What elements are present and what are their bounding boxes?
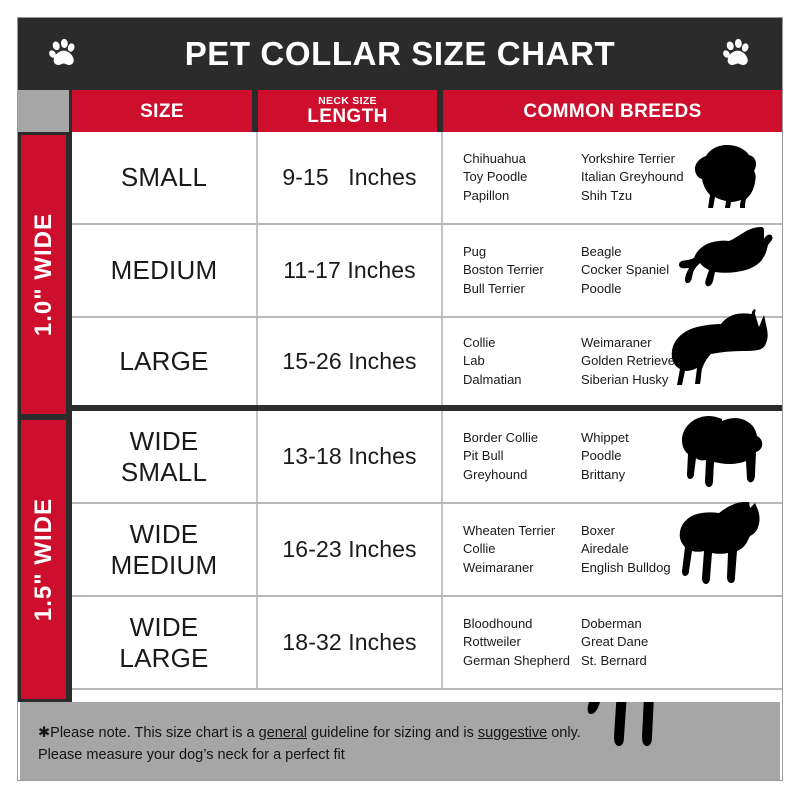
footer-note-underline-suggestive: suggestive (478, 725, 547, 741)
row-size-cell: SMALL (72, 132, 258, 223)
breed-list-column-1: Pug Boston Terrier Bull Terrier (463, 243, 581, 298)
group-rail-column: 1.0" WIDE 1.5" WIDE (18, 132, 69, 702)
footer-note-underline-general: general (259, 725, 307, 741)
column-header-breeds-label: COMMON BREEDS (523, 102, 701, 121)
row-breeds-cell: Collie Lab Dalmatian Weimaraner Golden R… (443, 318, 782, 405)
footer-note-text-2: guideline for sizing and is (307, 725, 478, 741)
row-length-cell: 13-18 Inches (258, 411, 443, 502)
table-row: LARGE 15-26 Inches Collie Lab Dalmatian … (72, 318, 782, 411)
row-size-label-line2: LARGE (119, 643, 208, 673)
breed-list-column-1: Collie Lab Dalmatian (463, 334, 581, 389)
header-corner-cell (18, 90, 69, 132)
row-breeds-cell: Wheaten Terrier Collie Weimaraner Boxer … (443, 504, 782, 595)
table-rows: SMALL 9-15 Inches Chihuahua Toy Poodle P… (69, 132, 782, 702)
row-size-cell: MEDIUM (72, 225, 258, 316)
column-header-length: NECK SIZE LENGTH (255, 90, 440, 132)
row-size-label: MEDIUM (111, 255, 218, 285)
row-breeds-cell: Chihuahua Toy Poodle Papillon Yorkshire … (443, 132, 782, 223)
table-row: SMALL 9-15 Inches Chihuahua Toy Poodle P… (72, 132, 782, 225)
table-body: 1.0" WIDE 1.5" WIDE SMALL 9-15 Inches Ch… (18, 132, 782, 702)
table-row: WIDE SMALL 13-18 Inches Border Collie Pi… (72, 411, 782, 504)
column-header-size-label: SIZE (140, 102, 184, 121)
row-size-label-line2: SMALL (121, 457, 207, 487)
footer-note-text-1: ✱Please note. This size chart is a (38, 725, 259, 741)
breed-list-column-2: Whippet Poodle Brittany (581, 429, 711, 484)
footer-note-line-2: Please measure your dog’s neck for a per… (38, 744, 780, 766)
row-size-label-line1: WIDE (130, 519, 199, 549)
group-rail-1-0-wide-label: 1.0" WIDE (30, 213, 58, 336)
row-size-label-line2: MEDIUM (111, 550, 218, 580)
breed-list-column-2: Doberman Great Dane St. Bernard (581, 615, 711, 670)
breed-list-column-2: Yorkshire Terrier Italian Greyhound Shih… (581, 150, 711, 205)
column-header-length-label: LENGTH (307, 107, 388, 126)
footer-note-text-3: only. (547, 725, 581, 741)
row-breeds-cell: Pug Boston Terrier Bull Terrier Beagle C… (443, 225, 782, 316)
row-length-cell: 11-17 Inches (258, 225, 443, 316)
chart-title-bar: PET COLLAR SIZE CHART (18, 18, 782, 90)
row-breeds-cell: Border Collie Pit Bull Greyhound Whippet… (443, 411, 782, 502)
row-size-cell: WIDE MEDIUM (72, 504, 258, 595)
row-size-label-line1: WIDE (130, 426, 199, 456)
row-size-label: SMALL (121, 162, 207, 192)
row-size-cell: WIDE LARGE (72, 597, 258, 688)
row-breeds-cell: Bloodhound Rottweiler German Shepherd Do… (443, 597, 782, 688)
breed-list-column-2: Boxer Airedale English Bulldog (581, 522, 711, 577)
row-length-cell: 16-23 Inches (258, 504, 443, 595)
breed-list-column-1: Wheaten Terrier Collie Weimaraner (463, 522, 581, 577)
paw-print-icon (46, 37, 80, 71)
row-size-cell: LARGE (72, 318, 258, 405)
row-length-cell: 9-15 Inches (258, 132, 443, 223)
group-rail-1-5-wide: 1.5" WIDE (21, 420, 66, 699)
breed-list-column-1: Chihuahua Toy Poodle Papillon (463, 150, 581, 205)
row-size-label-line1: WIDE (130, 612, 199, 642)
row-length-cell: 15-26 Inches (258, 318, 443, 405)
footer-note: ✱Please note. This size chart is a gener… (20, 702, 780, 780)
breed-list-column-1: Border Collie Pit Bull Greyhound (463, 429, 581, 484)
column-header-size: SIZE (69, 90, 255, 132)
page-title: PET COLLAR SIZE CHART (185, 35, 616, 73)
group-rail-1-0-wide: 1.0" WIDE (21, 135, 66, 414)
table-row: WIDE LARGE 18-32 Inches Bloodhound Rottw… (72, 597, 782, 690)
breed-list-column-2: Weimaraner Golden Retriever Siberian Hus… (581, 334, 711, 389)
paw-print-icon (720, 37, 754, 71)
pet-collar-size-chart: PET COLLAR SIZE CHART SIZE NECK SIZE LEN… (17, 17, 783, 781)
column-header-breeds: COMMON BREEDS (440, 90, 782, 132)
table-row: WIDE MEDIUM 16-23 Inches Wheaten Terrier… (72, 504, 782, 597)
footer-note-line-1: ✱Please note. This size chart is a gener… (38, 722, 780, 744)
row-size-cell: WIDE SMALL (72, 411, 258, 502)
row-length-cell: 18-32 Inches (258, 597, 443, 688)
breed-list-column-2: Beagle Cocker Spaniel Poodle (581, 243, 711, 298)
table-row: MEDIUM 11-17 Inches Pug Boston Terrier B… (72, 225, 782, 318)
table-header-row: SIZE NECK SIZE LENGTH COMMON BREEDS (18, 90, 782, 132)
breed-list-column-1: Bloodhound Rottweiler German Shepherd (463, 615, 581, 670)
group-rail-1-5-wide-label: 1.5" WIDE (30, 498, 58, 621)
row-size-label: LARGE (119, 346, 208, 376)
